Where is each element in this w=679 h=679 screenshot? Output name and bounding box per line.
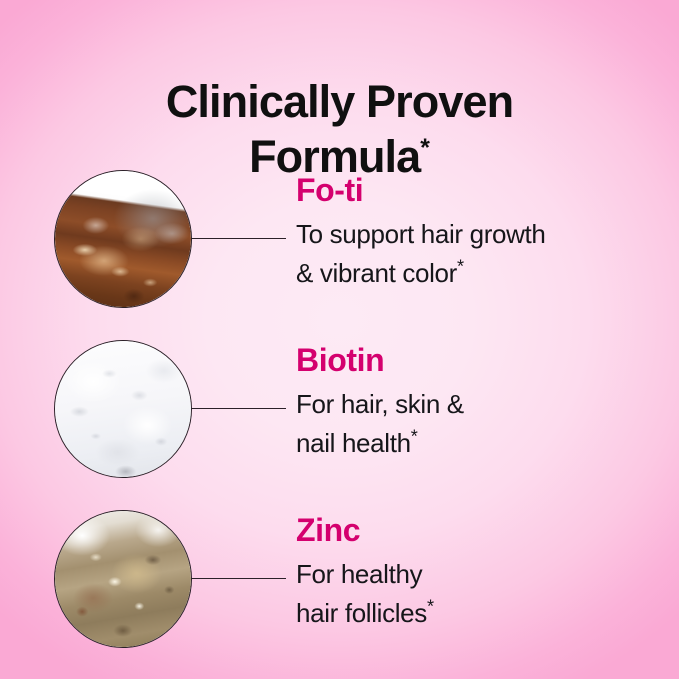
ingredient-description-biotin-line-2: nail health*	[296, 424, 656, 463]
ingredient-swatch-biotin	[54, 340, 192, 478]
ingredient-footnote-marker-biotin: *	[411, 426, 418, 446]
ingredient-description-biotin: For hair, skin & nail health*	[296, 385, 656, 463]
leader-line-biotin	[191, 408, 286, 409]
page-title-line-1: Clinically Proven	[0, 74, 679, 129]
ingredient-swatch-foti	[54, 170, 192, 308]
ingredient-description-zinc-line-2-text: hair follicles	[296, 598, 427, 628]
product-benefits-poster: Clinically Proven Formula* Fo-ti To supp…	[0, 0, 679, 679]
ingredient-description-foti: To support hair growth & vibrant color*	[296, 215, 656, 293]
bark-chunks-image	[55, 171, 191, 307]
ingredient-description-foti-line-2-text: & vibrant color	[296, 258, 457, 288]
ingredient-footnote-marker-zinc: *	[427, 596, 434, 616]
ingredient-description-zinc-line-1: For healthy	[296, 555, 656, 594]
ingredient-description-zinc-line-2: hair follicles*	[296, 594, 656, 633]
ingredient-swatch-zinc	[54, 510, 192, 648]
leader-line-zinc	[191, 578, 286, 579]
ingredient-text-zinc: Zinc For healthy hair follicles*	[296, 511, 656, 633]
ingredient-name-foti: Fo-ti	[296, 171, 656, 209]
ingredient-row-foti: Fo-ti To support hair growth & vibrant c…	[0, 163, 679, 313]
ingredient-row-zinc: Zinc For healthy hair follicles*	[0, 503, 679, 653]
ingredient-name-biotin: Biotin	[296, 341, 656, 379]
ingredient-name-zinc: Zinc	[296, 511, 656, 549]
ingredient-row-biotin: Biotin For hair, skin & nail health*	[0, 333, 679, 483]
ingredient-description-biotin-line-1: For hair, skin &	[296, 385, 656, 424]
ingredient-description-biotin-line-2-text: nail health	[296, 428, 411, 458]
mineral-rock-image	[55, 511, 191, 647]
ingredient-text-foti: Fo-ti To support hair growth & vibrant c…	[296, 171, 656, 293]
ingredient-description-foti-line-2: & vibrant color*	[296, 254, 656, 293]
leader-line-foti	[191, 238, 286, 239]
ingredient-footnote-marker-foti: *	[457, 256, 464, 276]
ingredient-text-biotin: Biotin For hair, skin & nail health*	[296, 341, 656, 463]
ingredient-description-foti-line-1: To support hair growth	[296, 215, 656, 254]
ingredient-description-zinc: For healthy hair follicles*	[296, 555, 656, 633]
white-powder-image	[55, 341, 191, 477]
page-title-footnote-marker: *	[420, 135, 430, 162]
